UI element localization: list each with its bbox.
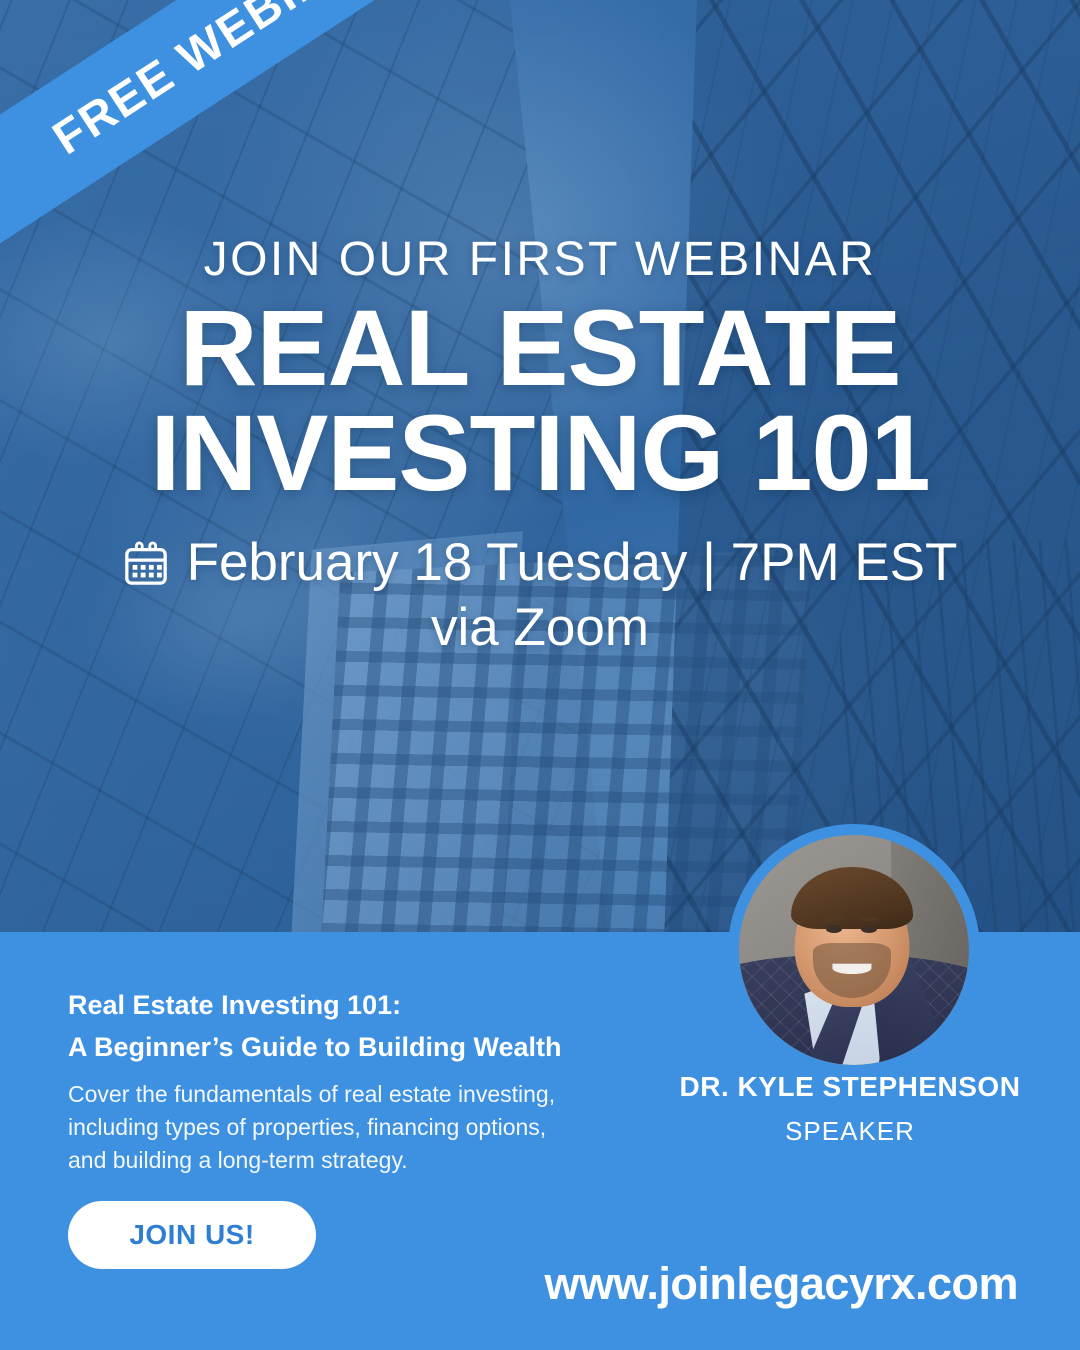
event-datetime: February 18 Tuesday | 7PM EST bbox=[187, 534, 958, 592]
session-heading-line-2: A Beginner’s Guide to Building Wealth bbox=[68, 1027, 628, 1069]
website-url[interactable]: www.joinlegacyrx.com bbox=[545, 1258, 1019, 1310]
hero-section: JOIN OUR FIRST WEBINAR REAL ESTATE INVES… bbox=[0, 236, 1080, 657]
speaker-name: DR. KYLE STEPHENSON bbox=[640, 1071, 1060, 1103]
speaker-photo-image bbox=[739, 835, 969, 1065]
hero-title-line-2: INVESTING 101 bbox=[0, 397, 1080, 508]
hero-title-line-1: REAL ESTATE bbox=[0, 292, 1080, 403]
session-heading-line-1: Real Estate Investing 101: bbox=[68, 985, 628, 1027]
speaker-avatar bbox=[728, 824, 980, 1076]
session-body-line-1: Cover the fundamentals of real estate in… bbox=[68, 1078, 628, 1111]
hero-kicker: JOIN OUR FIRST WEBINAR bbox=[0, 236, 1080, 284]
session-body-line-2: including types of properties, financing… bbox=[68, 1111, 628, 1144]
speaker-role: SPEAKER bbox=[640, 1116, 1060, 1147]
join-us-button[interactable]: JOIN US! bbox=[68, 1201, 316, 1269]
session-body-line-3: and building a long-term strategy. bbox=[68, 1144, 628, 1177]
calendar-icon bbox=[123, 541, 169, 587]
event-platform: via Zoom bbox=[0, 599, 1080, 657]
session-description: Real Estate Investing 101: A Beginner’s … bbox=[68, 985, 628, 1178]
event-datetime-row: February 18 Tuesday | 7PM EST bbox=[0, 534, 1080, 592]
webinar-poster: FREE WEBINAR JOIN OUR FIRST WEBINAR REAL… bbox=[0, 0, 1080, 1350]
